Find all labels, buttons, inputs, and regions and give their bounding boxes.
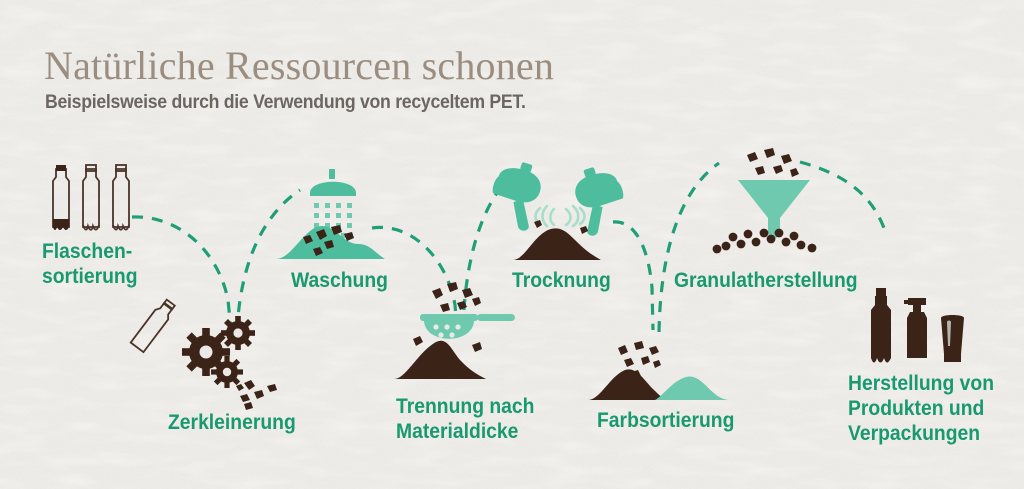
heap-teal: [655, 377, 728, 400]
flakes-group: [236, 380, 277, 410]
step-label-trocknung: Trocknung: [512, 268, 611, 293]
three-bottles-icon: [53, 165, 129, 230]
sieve-colander-icon: [394, 282, 515, 379]
sieve-body: [420, 314, 515, 345]
pet-recycling-infographic: Natürliche Ressourcen schonen Beispielsw…: [0, 0, 1024, 489]
shower-washing-icon: [276, 169, 385, 259]
hair-dryers-icon: [483, 156, 633, 260]
step-label-granulatherstellung: Granulatherstellung: [674, 268, 858, 293]
funnel-pellets-icon: [713, 148, 817, 253]
air-flow-swirls: [536, 206, 585, 226]
heap-dark: [588, 369, 668, 400]
hair-dryer-right: [569, 161, 633, 237]
sieve-mound: [394, 341, 486, 379]
step-label-zerkleinerung: Zerkleinerung: [168, 410, 296, 435]
step-label-flaschensortierung: Flaschen- sortierung: [42, 239, 138, 289]
step-label-herstellung-von-produkten: Herstellung von Produkten und Verpackung…: [848, 371, 994, 446]
falling-flakes-sieve: [432, 282, 481, 312]
page-subtitle: Beispielsweise durch die Verwendung von …: [45, 92, 526, 114]
tilted-bottle: [131, 298, 177, 352]
two-color-heaps-icon: [588, 341, 728, 400]
gears-shredder-icon: [131, 298, 277, 410]
gear-small-top: [221, 316, 255, 350]
product-bottle: [871, 288, 891, 363]
step-label-waschung: Waschung: [291, 268, 388, 293]
product-tube: [941, 315, 964, 362]
pellets-group: [713, 229, 817, 254]
funnel-body: [738, 180, 810, 238]
step-label-farbsortierung: Farbsortierung: [597, 408, 734, 433]
shower-head: [310, 182, 356, 196]
product-packaging-icon: [871, 288, 964, 363]
step-label-trennung-nach-materialdicke: Trennung nach Materialdicke: [396, 394, 534, 444]
page-title: Natürliche Ressourcen schonen: [44, 42, 554, 89]
gear-small-bottom: [211, 356, 243, 388]
funnel-flakes: [747, 148, 799, 177]
product-dispenser: [904, 298, 927, 358]
